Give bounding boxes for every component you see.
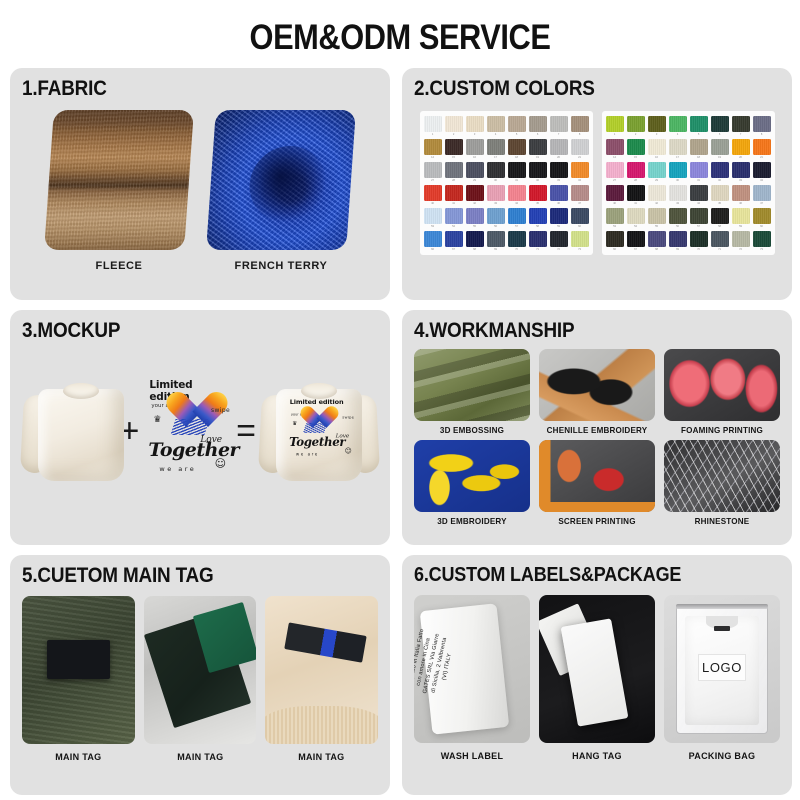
color-swatch-chip <box>627 185 645 201</box>
panel-workmanship-title: 4.WORKMANSHIP <box>414 320 743 342</box>
color-swatch-cell[interactable]: 5 <box>690 116 708 137</box>
color-swatch-cell[interactable]: 17 <box>669 139 687 160</box>
color-swatch-number: 67 <box>627 247 645 252</box>
color-swatch-number: 6 <box>529 132 547 137</box>
color-swatch-cell[interactable]: 6 <box>529 116 547 137</box>
color-swatch-chip <box>732 231 750 247</box>
color-swatch-cell[interactable]: 68 <box>466 231 484 252</box>
color-swatch-cell[interactable]: 34 <box>753 162 771 183</box>
color-swatch-number: 16 <box>466 155 484 160</box>
color-swatch-cell[interactable]: 34 <box>571 162 589 183</box>
color-swatch-cell[interactable]: 42 <box>466 185 484 206</box>
color-swatch-number: 68 <box>466 247 484 252</box>
color-swatch-cell[interactable]: 2 <box>627 116 645 137</box>
color-swatch-cell[interactable]: 73 <box>571 231 589 252</box>
color-swatch-cell[interactable]: 8 <box>571 116 589 137</box>
color-swatch-number: 1 <box>606 132 624 137</box>
color-swatch-cell[interactable]: 56 <box>487 208 505 229</box>
color-swatch-cell[interactable]: 27 <box>606 162 624 183</box>
color-swatch-chip <box>466 208 484 224</box>
color-swatch-cell[interactable]: 30 <box>487 162 505 183</box>
color-swatch-number: 18 <box>690 155 708 160</box>
color-swatch-chip <box>487 162 505 178</box>
color-swatch-cell[interactable]: 7 <box>550 116 568 137</box>
rhinestone-image <box>664 440 780 512</box>
color-swatch-cell[interactable]: 29 <box>648 162 666 183</box>
color-swatch-chip <box>648 139 666 155</box>
color-swatch-chip <box>550 185 568 201</box>
color-swatch-cell[interactable]: 72 <box>550 231 568 252</box>
color-swatch-cell[interactable]: 60 <box>571 208 589 229</box>
mockup-equation: + Limited edition your art ♛ swipe Love … <box>22 346 378 516</box>
smiley-icon: ☺ <box>345 447 352 455</box>
labels-item-packing-bag[interactable]: LOGO PACKING BAG <box>664 595 780 762</box>
color-swatch-cell[interactable]: 46 <box>550 185 568 206</box>
main-tag-hoodie-image <box>22 596 135 744</box>
workmanship-item-chenille-embroidery[interactable]: CHENILLE EMBROIDERY <box>539 349 655 438</box>
color-swatch-chip <box>445 231 463 247</box>
color-swatch-cell[interactable]: 60 <box>753 208 771 229</box>
color-swatch-number: 4 <box>487 132 505 137</box>
color-swatch-chip <box>424 116 442 132</box>
color-swatch-chip <box>445 139 463 155</box>
color-swatch-number: 53 <box>606 224 624 229</box>
color-swatch-cell[interactable]: 32 <box>529 162 547 183</box>
color-swatch-cell[interactable]: 53 <box>606 208 624 229</box>
color-swatch-chip <box>445 208 463 224</box>
color-swatch-chip <box>529 208 547 224</box>
color-swatch-number: 5 <box>508 132 526 137</box>
color-swatch-chip <box>466 139 484 155</box>
color-swatch-cell[interactable]: 2 <box>445 116 463 137</box>
color-swatch-number: 53 <box>424 224 442 229</box>
color-swatch-cell[interactable]: 58 <box>711 208 729 229</box>
color-swatch-chip <box>571 185 589 201</box>
color-chart-left[interactable]: 1234567814151617181920212728293031323334… <box>420 111 593 255</box>
color-swatch-number: 19 <box>529 155 547 160</box>
color-swatch-cell[interactable]: 1 <box>606 116 624 137</box>
color-swatch-number: 15 <box>445 155 463 160</box>
color-swatch-cell[interactable]: 21 <box>753 139 771 160</box>
color-swatch-cell[interactable]: 28 <box>627 162 645 183</box>
color-swatch-chip <box>571 139 589 155</box>
color-swatch-cell[interactable]: 53 <box>424 208 442 229</box>
color-swatch-cell[interactable]: 3 <box>648 116 666 137</box>
color-swatch-cell[interactable]: 69 <box>669 231 687 252</box>
color-swatch-number: 32 <box>529 178 547 183</box>
fleece-fabric-image <box>44 110 194 250</box>
color-swatch-chip <box>508 139 526 155</box>
color-swatch-chip <box>753 116 771 132</box>
color-swatch-number: 16 <box>648 155 666 160</box>
color-swatch-chip <box>690 231 708 247</box>
color-swatch-number: 58 <box>711 224 729 229</box>
color-swatch-cell[interactable]: 70 <box>690 231 708 252</box>
color-swatch-chip <box>627 162 645 178</box>
color-swatch-chip <box>669 116 687 132</box>
color-swatch-chip <box>690 185 708 201</box>
color-swatch-number: 71 <box>529 247 547 252</box>
color-swatch-cell[interactable]: 19 <box>711 139 729 160</box>
color-swatch-number: 2 <box>627 132 645 137</box>
color-swatch-chip <box>627 139 645 155</box>
color-swatch-number: 43 <box>669 201 687 206</box>
color-swatch-number: 3 <box>648 132 666 137</box>
color-swatch-number: 29 <box>466 178 484 183</box>
color-swatch-chip <box>424 185 442 201</box>
color-swatch-number: 31 <box>508 178 526 183</box>
color-swatch-cell[interactable]: 44 <box>690 185 708 206</box>
workmanship-item-3d-embossing[interactable]: 3D EMBOSSING <box>414 349 530 438</box>
main-tag-caption-1: MAIN TAG <box>25 752 132 763</box>
3d-embossing-image <box>414 349 530 421</box>
color-swatch-number: 21 <box>753 155 771 160</box>
color-swatch-cell[interactable]: 7 <box>732 116 750 137</box>
color-swatch-number: 30 <box>487 178 505 183</box>
color-swatch-chip <box>711 139 729 155</box>
color-swatch-chip <box>753 162 771 178</box>
color-swatch-number: 40 <box>606 201 624 206</box>
artwork-swipe-text: swipe <box>211 407 230 414</box>
color-swatch-number: 7 <box>550 132 568 137</box>
color-swatch-cell[interactable]: 44 <box>508 185 526 206</box>
smiley-icon: ☺ <box>215 457 226 470</box>
color-swatch-cell[interactable]: 19 <box>529 139 547 160</box>
color-swatch-cell[interactable]: 32 <box>711 162 729 183</box>
color-swatch-chip <box>732 139 750 155</box>
color-swatch-chip <box>606 231 624 247</box>
page-title: OEM&ODM SERVICE <box>48 0 752 68</box>
color-swatch-cell[interactable]: 66 <box>424 231 442 252</box>
main-tag-item-3[interactable]: MAIN TAG <box>265 596 378 763</box>
panel-custom-colors-title: 2.CUSTOM COLORS <box>414 78 743 100</box>
color-swatch-cell[interactable]: 16 <box>648 139 666 160</box>
color-swatch-cell[interactable]: 18 <box>690 139 708 160</box>
workmanship-items: 3D EMBOSSING CHENILLE EMBROIDERY FOAMING… <box>414 349 780 529</box>
color-swatch-chip <box>606 162 624 178</box>
panel-grid: 1.FABRIC FLEECE FRENCH TERRY 2.CUSTOM CO… <box>0 68 800 795</box>
color-swatch-number: 6 <box>711 132 729 137</box>
color-swatch-cell[interactable]: 1 <box>424 116 442 137</box>
tshirt-neck-tag <box>714 626 730 631</box>
main-tag-caption-2: MAIN TAG <box>146 752 253 763</box>
color-swatch-cell[interactable]: 40 <box>424 185 442 206</box>
artwork-graphic[interactable]: Limited edition your art ♛ swipe Love To… <box>143 377 232 485</box>
fabric-item-french-terry[interactable]: FRENCH TERRY <box>211 110 351 272</box>
color-swatch-number: 45 <box>529 201 547 206</box>
color-swatch-chip <box>753 231 771 247</box>
panel-fabric: 1.FABRIC FLEECE FRENCH TERRY <box>10 68 390 300</box>
color-swatch-number: 55 <box>466 224 484 229</box>
workmanship-item-screen-printing[interactable]: SCREEN PRINTING <box>539 440 655 529</box>
color-swatch-chip <box>711 162 729 178</box>
color-swatch-number: 44 <box>508 201 526 206</box>
color-swatch-chip <box>445 162 463 178</box>
color-swatch-chip <box>627 231 645 247</box>
color-swatch-chip <box>711 116 729 132</box>
3d-embroidery-image <box>414 440 530 512</box>
color-swatch-chip <box>424 208 442 224</box>
color-swatch-cell[interactable]: 43 <box>669 185 687 206</box>
color-swatch-chip <box>571 231 589 247</box>
color-swatch-number: 27 <box>606 178 624 183</box>
color-swatch-cell[interactable]: 70 <box>508 231 526 252</box>
color-swatch-number: 47 <box>571 201 589 206</box>
color-swatch-number: 72 <box>550 247 568 252</box>
color-swatch-number: 66 <box>606 247 624 252</box>
artwork-swipe-text: swipe <box>342 416 354 420</box>
color-swatch-number: 19 <box>711 155 729 160</box>
color-swatch-cell[interactable]: 69 <box>487 231 505 252</box>
color-swatch-cell[interactable]: 5 <box>508 116 526 137</box>
workmanship-caption-3d-embossing: 3D EMBOSSING <box>417 425 527 435</box>
color-swatch-number: 33 <box>550 178 568 183</box>
color-swatch-cell[interactable]: 31 <box>690 162 708 183</box>
color-swatch-cell[interactable]: 73 <box>753 231 771 252</box>
color-swatch-chip <box>753 139 771 155</box>
color-swatch-chip <box>669 185 687 201</box>
color-swatch-cell[interactable]: 16 <box>466 139 484 160</box>
color-swatch-cell[interactable]: 66 <box>606 231 624 252</box>
color-swatch-number: 18 <box>508 155 526 160</box>
color-swatch-chip <box>529 162 547 178</box>
color-swatch-chip <box>648 162 666 178</box>
color-swatch-number: 1 <box>424 132 442 137</box>
color-swatch-chip <box>753 185 771 201</box>
color-swatch-chip <box>466 116 484 132</box>
artwork-line2: Together <box>289 435 345 449</box>
hang-tag-image <box>539 595 655 743</box>
color-swatch-chip <box>732 208 750 224</box>
color-swatch-chip <box>550 208 568 224</box>
color-swatch-cell[interactable]: 18 <box>508 139 526 160</box>
main-tag-item-1[interactable]: MAIN TAG <box>22 596 135 763</box>
color-swatch-cell[interactable]: 45 <box>711 185 729 206</box>
panel-main-tag: 5.CUETOM MAIN TAG MAIN TAG MAIN TAG MAIN… <box>10 555 390 795</box>
color-swatch-chip <box>445 185 463 201</box>
color-swatch-cell[interactable]: 3 <box>466 116 484 137</box>
color-swatch-cell[interactable]: 33 <box>550 162 568 183</box>
color-swatch-number: 30 <box>669 178 687 183</box>
color-swatch-chip <box>529 139 547 155</box>
color-swatch-cell[interactable]: 58 <box>529 208 547 229</box>
color-swatch-cell[interactable]: 46 <box>732 185 750 206</box>
color-swatch-chip <box>445 116 463 132</box>
color-swatch-number: 27 <box>424 178 442 183</box>
main-tag-items: MAIN TAG MAIN TAG MAIN TAG <box>22 596 378 763</box>
artwork-graphic-small: Limited edition your art ♛ swipe Love To… <box>286 397 355 464</box>
color-swatch-cell[interactable]: 68 <box>648 231 666 252</box>
color-swatch-cell[interactable]: 15 <box>627 139 645 160</box>
color-swatch-chip <box>648 208 666 224</box>
color-swatch-chip <box>690 162 708 178</box>
color-swatch-cell[interactable]: 41 <box>445 185 463 206</box>
color-swatch-chip <box>487 231 505 247</box>
color-swatch-cell[interactable]: 42 <box>648 185 666 206</box>
color-swatch-cell[interactable]: 47 <box>571 185 589 206</box>
color-swatch-number: 59 <box>732 224 750 229</box>
color-swatch-number: 41 <box>627 201 645 206</box>
main-tag-caption-3: MAIN TAG <box>268 752 375 763</box>
color-swatch-cell[interactable]: 14 <box>606 139 624 160</box>
color-swatch-cell[interactable]: 27 <box>424 162 442 183</box>
color-swatch-chip <box>711 231 729 247</box>
artwork-line1: Limited edition <box>290 398 344 405</box>
main-tag-collar-image <box>265 596 378 744</box>
color-swatch-number: 66 <box>424 247 442 252</box>
chenille-embroidery-image <box>539 349 655 421</box>
color-swatch-number: 20 <box>732 155 750 160</box>
color-swatch-chip <box>606 139 624 155</box>
color-swatch-cell[interactable]: 20 <box>732 139 750 160</box>
color-swatch-number: 34 <box>571 178 589 183</box>
color-swatch-chip <box>487 139 505 155</box>
color-swatch-chip <box>669 208 687 224</box>
color-swatch-cell[interactable]: 4 <box>669 116 687 137</box>
color-swatch-number: 57 <box>690 224 708 229</box>
color-swatch-chip <box>711 185 729 201</box>
color-swatch-chip <box>648 185 666 201</box>
color-swatch-number: 54 <box>445 224 463 229</box>
color-swatch-cell[interactable]: 41 <box>627 185 645 206</box>
color-swatch-number: 73 <box>571 247 589 252</box>
color-swatch-chip <box>571 116 589 132</box>
color-swatch-cell[interactable]: 57 <box>508 208 526 229</box>
heart-streak <box>303 423 327 433</box>
color-swatch-number: 3 <box>466 132 484 137</box>
labels-item-wash-label[interactable]: Disegnato in Italia Fatto con amore in C… <box>414 595 530 762</box>
color-swatch-chip <box>690 139 708 155</box>
color-swatch-number: 56 <box>487 224 505 229</box>
color-swatch-cell[interactable]: 57 <box>690 208 708 229</box>
color-swatch-cell[interactable]: 15 <box>445 139 463 160</box>
color-swatch-cell[interactable]: 30 <box>669 162 687 183</box>
packing-bag-image: LOGO <box>664 595 780 743</box>
color-swatch-chip <box>487 208 505 224</box>
color-swatch-cell[interactable]: 59 <box>732 208 750 229</box>
color-swatch-chip <box>424 231 442 247</box>
color-swatch-cell[interactable]: 55 <box>648 208 666 229</box>
printed-artwork-overlay: Limited edition your art ♛ swipe Love To… <box>286 397 360 467</box>
color-swatch-number: 60 <box>571 224 589 229</box>
color-swatch-number: 42 <box>466 201 484 206</box>
color-swatch-chip <box>529 185 547 201</box>
workmanship-item-foaming-printing[interactable]: FOAMING PRINTING <box>664 349 780 438</box>
color-chart-right[interactable]: 1234567814151617181920212728293031323334… <box>602 111 775 255</box>
color-swatch-number: 70 <box>690 247 708 252</box>
color-swatch-cell[interactable]: 20 <box>550 139 568 160</box>
color-swatch-cell[interactable]: 54 <box>627 208 645 229</box>
blank-sweatshirt-image[interactable] <box>22 375 116 487</box>
workmanship-item-rhinestone[interactable]: RHINESTONE <box>664 440 780 529</box>
color-swatch-number: 8 <box>753 132 771 137</box>
color-swatch-chip <box>669 162 687 178</box>
color-swatch-cell[interactable]: 4 <box>487 116 505 137</box>
screen-printing-image <box>539 440 655 512</box>
color-swatch-cell[interactable]: 72 <box>732 231 750 252</box>
color-swatch-cell[interactable]: 21 <box>571 139 589 160</box>
color-swatch-number: 60 <box>753 224 771 229</box>
color-swatch-cell[interactable]: 28 <box>445 162 463 183</box>
color-swatch-cell[interactable]: 56 <box>669 208 687 229</box>
color-swatch-number: 29 <box>648 178 666 183</box>
color-swatch-chip <box>669 231 687 247</box>
color-swatch-chip <box>550 116 568 132</box>
main-tag-item-2[interactable]: MAIN TAG <box>144 596 257 763</box>
color-swatch-cell[interactable]: 40 <box>606 185 624 206</box>
color-swatch-chip <box>627 208 645 224</box>
color-swatch-number: 20 <box>550 155 568 160</box>
color-swatch-number: 5 <box>690 132 708 137</box>
color-swatch-number: 33 <box>732 178 750 183</box>
color-swatch-cell[interactable]: 67 <box>627 231 645 252</box>
color-swatch-cell[interactable]: 43 <box>487 185 505 206</box>
labels-package-items: Disegnato in Italia Fatto con amore in C… <box>414 595 780 762</box>
color-swatch-chip <box>606 185 624 201</box>
color-swatch-cell[interactable]: 54 <box>445 208 463 229</box>
artwork-line3: we are <box>296 452 319 457</box>
workmanship-item-3d-embroidery[interactable]: 3D EMBROIDERY <box>414 440 530 529</box>
color-swatch-number: 17 <box>487 155 505 160</box>
color-swatch-number: 73 <box>753 247 771 252</box>
color-swatch-chip <box>606 116 624 132</box>
color-swatch-chip <box>466 162 484 178</box>
artwork-line3: we are <box>159 465 196 473</box>
wash-label-image: Disegnato in Italia Fatto con amore in C… <box>414 595 530 743</box>
printed-sweatshirt-image[interactable]: Limited edition your art ♛ swipe Love To… <box>260 375 378 487</box>
color-swatch-cell[interactable]: 47 <box>753 185 771 206</box>
color-swatch-cell[interactable]: 29 <box>466 162 484 183</box>
workmanship-caption-screen-printing: SCREEN PRINTING <box>542 516 652 526</box>
labels-item-hang-tag[interactable]: HANG TAG <box>539 595 655 762</box>
color-swatch-cell[interactable]: 59 <box>550 208 568 229</box>
color-swatch-number: 42 <box>648 201 666 206</box>
color-swatch-number: 40 <box>424 201 442 206</box>
french-terry-fabric-image <box>206 110 356 250</box>
color-swatch-cell[interactable]: 8 <box>753 116 771 137</box>
color-swatch-chip <box>571 208 589 224</box>
color-swatch-cell[interactable]: 33 <box>732 162 750 183</box>
color-swatch-number: 2 <box>445 132 463 137</box>
color-swatch-cell[interactable]: 71 <box>529 231 547 252</box>
color-swatch-cell[interactable]: 14 <box>424 139 442 160</box>
color-swatch-grid-left: 1234567814151617181920212728293031323334… <box>424 116 589 252</box>
color-swatch-number: 41 <box>445 201 463 206</box>
color-swatch-cell[interactable]: 67 <box>445 231 463 252</box>
color-swatch-chip <box>466 185 484 201</box>
color-swatch-number: 34 <box>753 178 771 183</box>
workmanship-caption-3d-embroidery: 3D EMBROIDERY <box>417 516 527 526</box>
color-swatch-cell[interactable]: 71 <box>711 231 729 252</box>
color-swatch-number: 71 <box>711 247 729 252</box>
color-swatch-number: 69 <box>487 247 505 252</box>
color-swatch-cell[interactable]: 31 <box>508 162 526 183</box>
color-swatch-cell[interactable]: 45 <box>529 185 547 206</box>
color-swatch-cell[interactable]: 55 <box>466 208 484 229</box>
color-swatch-number: 69 <box>669 247 687 252</box>
panel-main-tag-title: 5.CUETOM MAIN TAG <box>22 565 342 587</box>
sweatshirt-body <box>38 389 124 481</box>
fabric-item-fleece[interactable]: FLEECE <box>49 110 189 272</box>
color-swatch-cell[interactable]: 6 <box>711 116 729 137</box>
color-swatch-chip <box>529 231 547 247</box>
crown-icon: ♛ <box>292 421 297 427</box>
workmanship-caption-rhinestone: RHINESTONE <box>667 516 777 526</box>
color-swatch-cell[interactable]: 17 <box>487 139 505 160</box>
color-swatch-chip <box>487 116 505 132</box>
color-swatch-number: 14 <box>424 155 442 160</box>
color-swatch-chip <box>753 208 771 224</box>
